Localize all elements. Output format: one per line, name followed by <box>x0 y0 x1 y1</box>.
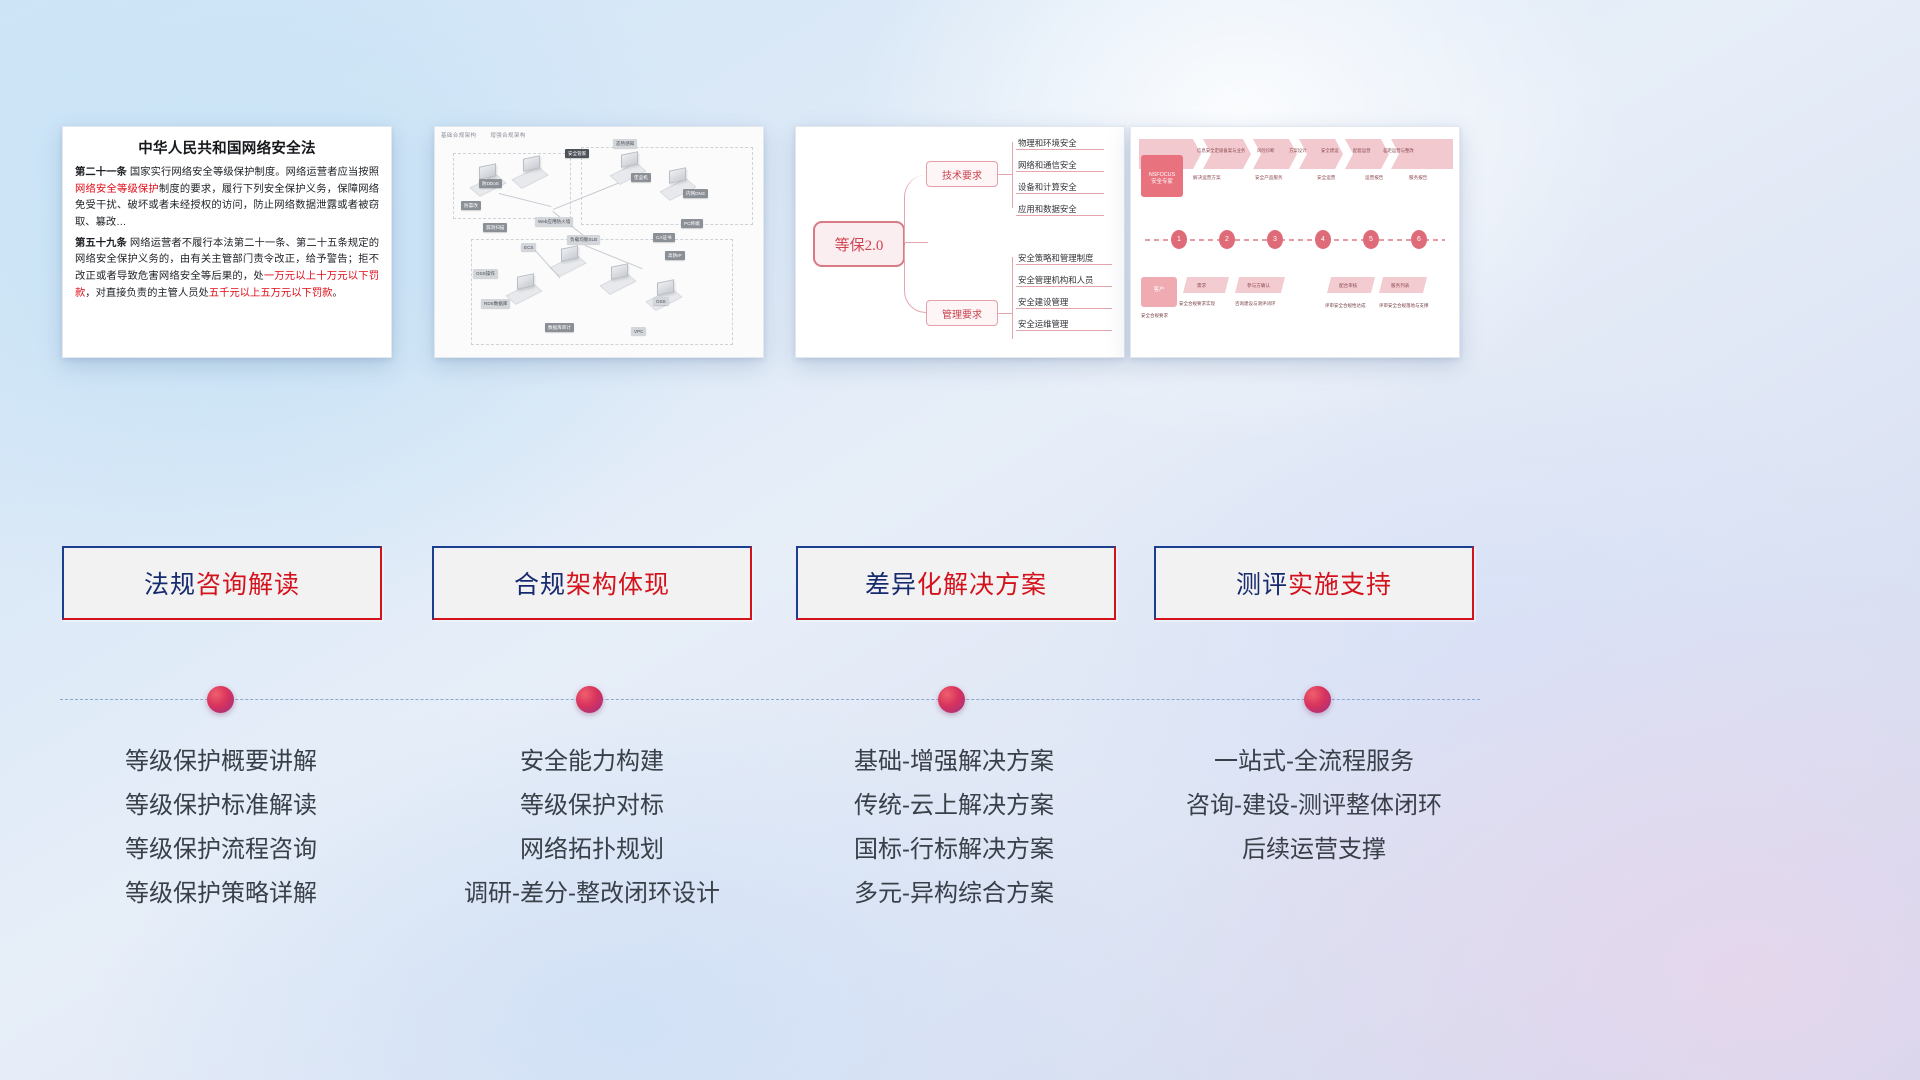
mindmap-card[interactable]: 等保2.0 技术要求 管理要求 物理和环境安全 网络和通信安全 设备和计算安全 … <box>795 126 1125 358</box>
arch-node-situational-awareness: 态势感知 <box>613 139 637 148</box>
bottom-box-label-4: 服务列表 <box>1391 283 1409 289</box>
dashed-timeline-track <box>60 699 1480 700</box>
heading-box-differentiated-solution[interactable]: 差异化解决方案 <box>796 546 1116 620</box>
heading-box-compliance-architecture[interactable]: 合规架构体现 <box>432 546 752 620</box>
heading-text-2: 合规架构体现 <box>514 565 670 601</box>
timeline-marker-3[interactable] <box>938 686 965 713</box>
list-item: 基础-增强解决方案 <box>774 740 1134 784</box>
list-item: 多元-异构综合方案 <box>774 872 1134 916</box>
architecture-diagram-card[interactable]: 基础合规架构 增强合规架构 <box>434 126 764 358</box>
bottom-box-label-2: 参与方确认 <box>1247 283 1270 289</box>
heading-1-suffix: 咨询解读 <box>196 572 300 599</box>
mindmap-leaf-policy-system: 安全策略和管理制度 <box>1018 252 1093 264</box>
detail-column-1: 等级保护概要讲解 等级保护标准解读 等级保护流程咨询 等级保护策略详解 <box>41 740 401 916</box>
arch-node-pc-terminal: PC终端 <box>681 219 703 228</box>
list-item: 国标-行标解决方案 <box>774 828 1134 872</box>
mindmap-leaf-device-compute: 设备和计算安全 <box>1018 181 1077 193</box>
mindmap-leaf-operations: 安全运维管理 <box>1018 318 1068 330</box>
mindmap-underline-7 <box>1016 308 1112 309</box>
phase-label-1: 解决运营方案 <box>1193 175 1221 181</box>
ribbon-segment-4 <box>1299 139 1343 169</box>
detail-column-2: 安全能力构建 等级保护对标 网络拓扑规划 调研-差分-整改闭环设计 <box>412 740 772 916</box>
law-article-59-label: 第五十九条 <box>75 238 127 249</box>
mindmap-root-node: 等保2.0 <box>813 221 905 267</box>
ribbon-segment-6 <box>1391 139 1453 169</box>
heading-4-prefix: 测评 <box>1236 572 1288 599</box>
arch-node-waf: Web应用防火墙 <box>535 217 573 226</box>
arch-node-intranet-dns: 内网DNS <box>683 189 708 198</box>
timeline-step-1: 1 <box>1171 230 1187 249</box>
timeline-track <box>1145 239 1445 241</box>
timeline-step-2: 2 <box>1219 230 1235 249</box>
mindmap-canvas: 等保2.0 技术要求 管理要求 物理和环境安全 网络和通信安全 设备和计算安全 … <box>796 127 1124 357</box>
arch-label-enhanced: 增强合规架构 <box>490 133 525 139</box>
arch-node-rds: RDS数据库 <box>481 299 510 308</box>
mindmap-branch-technical: 技术要求 <box>926 161 998 187</box>
phase-label-3: 安全运营 <box>1317 175 1335 181</box>
timeline-marker-2[interactable] <box>576 686 603 713</box>
list-item: 一站式-全流程服务 <box>1104 740 1524 784</box>
bottom-tag-5: 评审安全合规落地与支撑 <box>1379 303 1429 309</box>
phase-label-2: 安全产品服务 <box>1255 175 1283 181</box>
mindmap-connector-mgmt <box>998 313 1012 314</box>
service-timeline-canvas: 信息安全定级备案与业务 风险诊断 方案设计 安全建设 配套运营 差距运营与整改 … <box>1131 127 1459 357</box>
mindmap-underline-2 <box>1016 171 1104 172</box>
timeline-step-6: 6 <box>1411 230 1427 249</box>
heading-3-prefix: 差异 <box>865 572 917 599</box>
law-p2-part-c: 。 <box>332 288 342 299</box>
list-item: 安全能力构建 <box>412 740 772 784</box>
ribbon-label-6: 差距运营与整改 <box>1383 148 1414 154</box>
timeline-step-3: 3 <box>1267 230 1283 249</box>
heading-1-prefix: 法规 <box>144 572 196 599</box>
ribbon-label-5: 配套运营 <box>1353 148 1371 154</box>
law-text-body: 中华人民共和国网络安全法 第二十一条 国家实行网络安全等级保护制度。网络运营者应… <box>63 127 391 302</box>
arch-node-anti-tamper: 防篡改 <box>461 201 481 210</box>
service-ribbon: 信息安全定级备案与业务 风险诊断 方案设计 安全建设 配套运营 差距运营与整改 <box>1139 139 1453 169</box>
phase-label-5: 服务报告 <box>1409 175 1427 181</box>
list-item: 等级保护标准解读 <box>41 784 401 828</box>
bottom-tag-4: 评审安全合规性达成 <box>1325 303 1366 309</box>
arch-node-bastion: 堡垒机 <box>631 173 651 182</box>
detail-column-4: 一站式-全流程服务 咨询-建设-测评整体闭环 后续运营支撑 <box>1104 740 1524 872</box>
customer-badge-label: 客户 <box>1154 287 1165 293</box>
badge-role: 安全专家 <box>1151 179 1173 185</box>
mindmap-leaf-network-comm: 网络和通信安全 <box>1018 159 1077 171</box>
mindmap-branch-management: 管理要求 <box>926 300 998 326</box>
law-p1-part-a: 国家实行网络安全等级保护制度。网络运营者应当按照 <box>127 167 379 178</box>
arch-node-oss: OSS <box>653 297 669 305</box>
heading-text-4: 测评实施支持 <box>1236 565 1392 601</box>
mindmap-leaf-construction: 安全建设管理 <box>1018 296 1068 308</box>
mindmap-spine-mgmt <box>1012 257 1013 339</box>
ribbon-segment-3 <box>1253 139 1297 169</box>
bottom-tag-3: 咨询建设与测评闭环 <box>1235 301 1276 307</box>
mindmap-underline-5 <box>1016 264 1112 265</box>
arch-node-ecs: ECS <box>521 243 536 251</box>
bottom-tag-1: 安全合规要求 <box>1141 313 1168 319</box>
media-card-row: 中华人民共和国网络安全法 第二十一条 国家实行网络安全等级保护制度。网络运营者应… <box>0 0 1920 420</box>
architecture-canvas: 基础合规架构 增强合规架构 <box>435 127 763 357</box>
heading-2-suffix: 架构体现 <box>566 572 670 599</box>
list-item: 等级保护对标 <box>412 784 772 828</box>
list-item: 等级保护流程咨询 <box>41 828 401 872</box>
phase-label-4: 运营报告 <box>1365 175 1383 181</box>
law-p1-highlight: 网络安全等级保护 <box>75 184 159 195</box>
law-article-21-label: 第二十一条 <box>75 167 127 178</box>
arch-node-high-defense-ip: 高防IP <box>665 251 685 260</box>
bottom-box-label-3: 配合审核 <box>1339 283 1357 289</box>
list-item: 咨询-建设-测评整体闭环 <box>1104 784 1524 828</box>
badge-brand: NSFOCUS <box>1149 172 1175 178</box>
mindmap-underline-8 <box>1016 330 1112 331</box>
law-paragraph-2: 第五十九条 网络运营者不履行本法第二十一条、第二十五条规定的网络安全保护义务的，… <box>75 236 379 303</box>
timeline-step-4: 4 <box>1315 230 1331 249</box>
arch-node-db-audit: 数据库审计 <box>545 323 574 332</box>
law-title: 中华人民共和国网络安全法 <box>75 137 379 158</box>
list-item: 后续运营支撑 <box>1104 828 1524 872</box>
heading-2-prefix: 合规 <box>514 572 566 599</box>
list-item: 调研-差分-整改闭环设计 <box>412 872 772 916</box>
list-item: 网络拓扑规划 <box>412 828 772 872</box>
mindmap-connector-tech <box>998 174 1012 175</box>
ribbon-label-3: 方案设计 <box>1289 148 1307 154</box>
mindmap-curve-mgmt <box>904 245 928 313</box>
arch-node-security-butler: 安全管家 <box>565 149 589 158</box>
timeline-marker-4[interactable] <box>1304 686 1331 713</box>
ribbon-segment-2 <box>1203 139 1251 169</box>
arch-node-vpc: VPC <box>631 327 646 335</box>
law-p2-highlight-2: 五千元以上五万元以下罚款 <box>209 288 333 299</box>
nsfocus-expert-badge: NSFOCUS 安全专家 <box>1141 155 1183 197</box>
mindmap-leaf-app-data: 应用和数据安全 <box>1018 203 1077 215</box>
ribbon-label-1: 信息安全定级备案与业务 <box>1197 148 1245 154</box>
arch-node-ca-cert: CA证书 <box>653 233 675 242</box>
mindmap-curve-tech <box>904 175 928 243</box>
service-timeline-card[interactable]: 信息安全定级备案与业务 风险诊断 方案设计 安全建设 配套运营 差距运营与整改 … <box>1130 126 1460 358</box>
law-p2-part-b: ，对直接负责的主管人员处 <box>85 288 209 299</box>
ribbon-segment-5 <box>1345 139 1389 169</box>
arch-node-vuln-scan: 漏洞扫描 <box>483 223 507 232</box>
list-item: 传统-云上解决方案 <box>774 784 1134 828</box>
mindmap-underline-3 <box>1016 193 1104 194</box>
arch-label-basic: 基础合规架构 <box>441 133 476 139</box>
heading-4-suffix: 实施支持 <box>1288 572 1392 599</box>
heading-box-assessment-support[interactable]: 测评实施支持 <box>1154 546 1474 620</box>
arch-node-slb: 负载均衡SLB <box>567 235 600 244</box>
ribbon-label-4: 安全建设 <box>1321 148 1339 154</box>
ribbon-label-2: 风险诊断 <box>1257 148 1275 154</box>
mindmap-underline-1 <box>1016 149 1104 150</box>
law-paragraph-1: 第二十一条 国家实行网络安全等级保护制度。网络运营者应当按照网络安全等级保护制度… <box>75 165 379 232</box>
arch-node-oss-ops: OSS操作 <box>473 269 498 278</box>
mindmap-underline-6 <box>1016 286 1112 287</box>
heading-text-3: 差异化解决方案 <box>865 565 1047 601</box>
mindmap-spine-tech <box>1012 142 1013 208</box>
detail-column-3: 基础-增强解决方案 传统-云上解决方案 国标-行标解决方案 多元-异构综合方案 <box>774 740 1134 916</box>
timeline-step-5: 5 <box>1363 230 1379 249</box>
heading-3-suffix: 化解决方案 <box>917 572 1047 599</box>
mindmap-leaf-physical-env: 物理和环境安全 <box>1018 137 1077 149</box>
customer-badge: 客户 <box>1141 277 1177 307</box>
heading-box-regulation-consulting[interactable]: 法规咨询解读 <box>62 546 382 620</box>
list-item: 等级保护概要讲解 <box>41 740 401 784</box>
bottom-tag-2: 安全合规要求实现 <box>1179 301 1215 307</box>
architecture-top-labels: 基础合规架构 增强合规架构 <box>441 131 538 139</box>
timeline-marker-1[interactable] <box>207 686 234 713</box>
arch-node-anti-ddos: 防DDoS <box>479 179 502 188</box>
bottom-box-label-1: 需求 <box>1197 283 1206 289</box>
heading-text-1: 法规咨询解读 <box>144 565 300 601</box>
mindmap-underline-4 <box>1016 215 1104 216</box>
law-text-card[interactable]: 中华人民共和国网络安全法 第二十一条 国家实行网络安全等级保护制度。网络运营者应… <box>62 126 392 358</box>
mindmap-leaf-org-personnel: 安全管理机构和人员 <box>1018 274 1093 286</box>
list-item: 等级保护策略详解 <box>41 872 401 916</box>
